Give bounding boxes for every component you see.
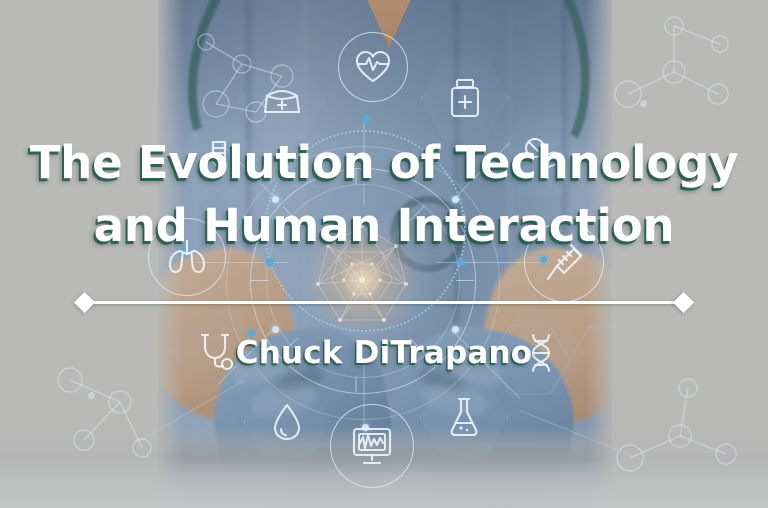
page-title: The Evolution of Technologyand Human Int… (24, 131, 744, 257)
diamond-right-icon (673, 291, 694, 312)
title-line-1: The Evolution of Technology (30, 136, 738, 189)
author-name: Chuck DiTrapano (236, 335, 532, 371)
divider-bar (86, 301, 682, 304)
title-slide: The Evolution of Technologyand Human Int… (0, 0, 768, 508)
slide-content: The Evolution of Technologyand Human Int… (0, 0, 768, 508)
divider (77, 291, 691, 313)
title-line-2: and Human Interaction (94, 199, 675, 252)
diamond-left-icon (74, 291, 95, 312)
